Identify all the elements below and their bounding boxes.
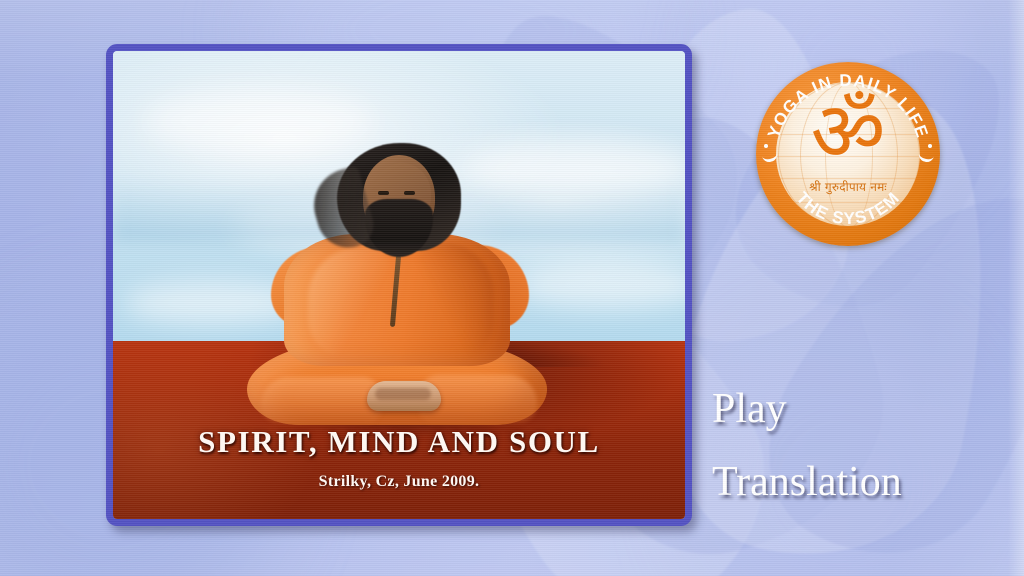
- om-symbol-icon: ॐ: [776, 92, 920, 174]
- menu-item-play[interactable]: Play: [712, 388, 1012, 430]
- logo-swoosh-dot-right-icon: [928, 144, 932, 148]
- robe-fold: [416, 242, 494, 360]
- photo-caption-subtitle: Strilky, Cz, June 2009.: [113, 473, 685, 491]
- photo-caption-title: SPIRIT, MIND AND SOUL: [113, 424, 685, 460]
- figure-eye-left: [378, 191, 389, 195]
- logo-swoosh-dot-left-icon: [764, 144, 768, 148]
- menu-item-translation[interactable]: Translation: [712, 461, 1012, 503]
- photo-image: SPIRIT, MIND AND SOUL Strilky, Cz, June …: [113, 51, 685, 519]
- yoga-in-daily-life-logo: ॐ श्री गुरुदीपाय नमः YOGA IN DAILY LIFE …: [756, 62, 940, 246]
- title-photo-panel: SPIRIT, MIND AND SOUL Strilky, Cz, June …: [106, 44, 692, 526]
- figure-eye-right: [404, 191, 415, 195]
- photo-caption: SPIRIT, MIND AND SOUL Strilky, Cz, June …: [113, 424, 685, 491]
- dvd-menu-list: Play Translation: [712, 388, 1012, 503]
- logo-sanskrit-text: श्री गुरुदीपाय नमः: [776, 178, 920, 195]
- globe-parallel: [776, 202, 920, 203]
- figure-hands: [367, 381, 441, 411]
- robe-fold: [308, 248, 390, 358]
- dvd-menu-screen: SPIRIT, MIND AND SOUL Strilky, Cz, June …: [0, 0, 1024, 576]
- logo-globe: ॐ श्री गुरुदीपाय नमः: [776, 82, 920, 226]
